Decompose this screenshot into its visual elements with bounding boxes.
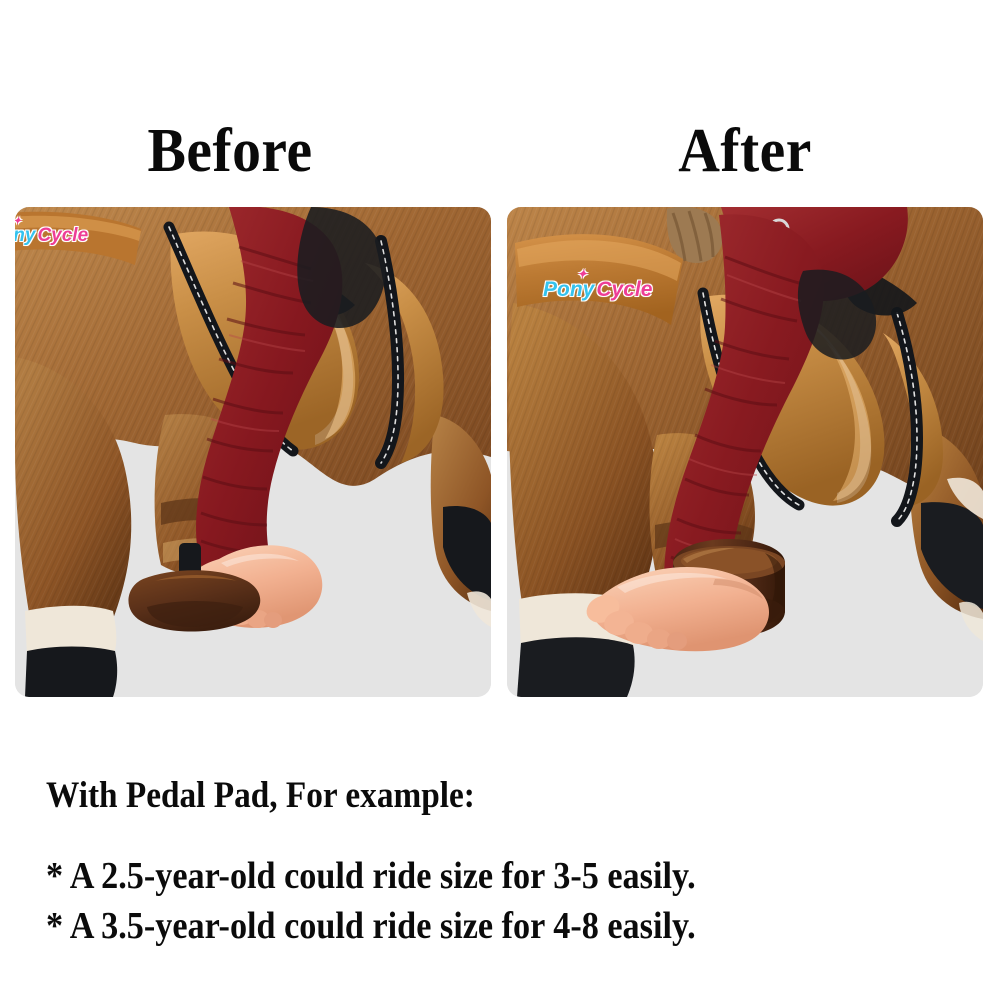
- logo-pony-text: Pony: [15, 226, 35, 245]
- heading-before: Before: [30, 116, 430, 186]
- logo-star-icon: ✦: [577, 268, 587, 280]
- horse-hoof-left: [25, 647, 117, 698]
- before-illustration: [15, 207, 491, 697]
- heading-after: After: [545, 116, 945, 186]
- logo-star-icon: ✦: [15, 217, 21, 227]
- caption-intro: With Pedal Pad, For example:: [46, 774, 475, 818]
- logo-pony-text: Pony: [543, 279, 594, 300]
- logo-cycle-text: Cycle: [596, 279, 652, 300]
- caption-bullet-1: * A 2.5-year-old could ride size for 3-5…: [46, 853, 696, 899]
- photo-after: ✦ Pony Cycle: [507, 207, 983, 697]
- caption-bullet-2: * A 3.5-year-old could ride size for 4-8…: [46, 903, 696, 949]
- photo-before-canvas: [15, 207, 491, 697]
- photo-before: ✦ Pony Cycle: [15, 207, 491, 697]
- horse-hoof-left: [517, 637, 635, 697]
- ponycycle-logo-before: ✦ Pony Cycle: [15, 226, 88, 245]
- logo-cycle-text: Cycle: [37, 226, 88, 245]
- ponycycle-logo-after: ✦ Pony Cycle: [543, 279, 652, 300]
